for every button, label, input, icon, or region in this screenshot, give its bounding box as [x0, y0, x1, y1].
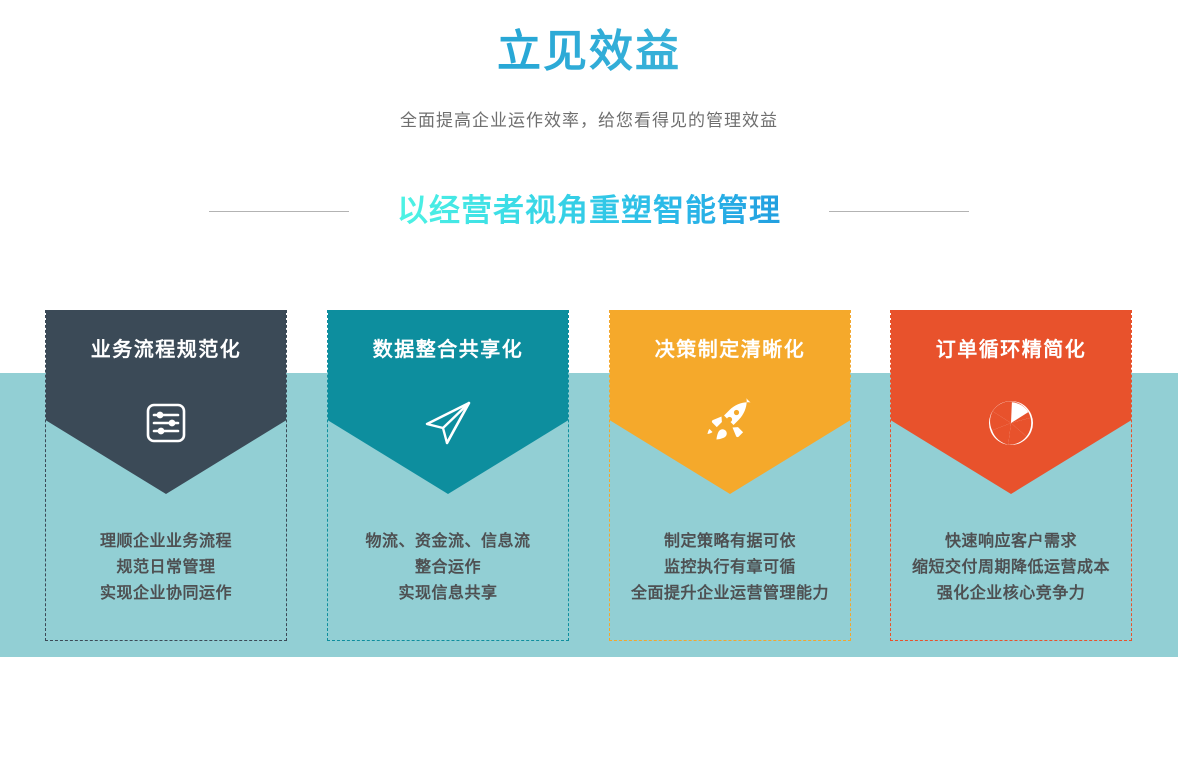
- feature-card[interactable]: 订单循环精简化: [890, 310, 1132, 641]
- card-body-line: 强化企业核心竞争力: [890, 581, 1132, 607]
- card-title: 数据整合共享化: [327, 336, 569, 364]
- sliders-icon: [141, 398, 191, 448]
- card-body-line: 整合运作: [327, 555, 569, 581]
- feature-card[interactable]: 业务流程规范化 理顺企业业务流程 规范日常管理 实现企业协同运作: [45, 310, 287, 641]
- card-body-line: 规范日常管理: [45, 555, 287, 581]
- card-body: 理顺企业业务流程 规范日常管理 实现企业协同运作: [45, 529, 287, 607]
- card-body-line: 实现信息共享: [327, 581, 569, 607]
- section-heading-text: 以经营者视角重塑智能管理: [397, 188, 781, 234]
- card-body: 快速响应客户需求 缩短交付周期降低运营成本 强化企业核心竞争力: [890, 529, 1132, 607]
- aperture-icon: [986, 398, 1036, 448]
- card-body-line: 理顺企业业务流程: [45, 529, 287, 555]
- card-body-line: 制定策略有据可依: [609, 529, 851, 555]
- card-body: 物流、资金流、信息流 整合运作 实现信息共享: [327, 529, 569, 607]
- card-title: 业务流程规范化: [45, 336, 287, 364]
- card-body-line: 监控执行有章可循: [609, 555, 851, 581]
- divider-line-left: [209, 211, 349, 212]
- feature-card[interactable]: 决策制定清晰化 制定策略有据可依 监控执行有章可循 全面提升企业运营管理能力: [609, 310, 851, 641]
- card-body-line: 实现企业协同运作: [45, 581, 287, 607]
- page-title: 立见效益: [0, 22, 1178, 82]
- page-subtitle: 全面提高企业运作效率，给您看得见的管理效益: [0, 107, 1178, 135]
- card-body-line: 缩短交付周期降低运营成本: [890, 555, 1132, 581]
- rocket-icon: [705, 398, 755, 448]
- card-body-line: 全面提升企业运营管理能力: [609, 581, 851, 607]
- card-title: 订单循环精简化: [890, 336, 1132, 364]
- card-body-line: 物流、资金流、信息流: [327, 529, 569, 555]
- divider-line-right: [829, 211, 969, 212]
- section-heading: 以经营者视角重塑智能管理: [0, 188, 1178, 234]
- paper-plane-icon: [423, 398, 473, 448]
- feature-card[interactable]: 数据整合共享化 物流、资金流、信息流 整合运作 实现信息共享: [327, 310, 569, 641]
- card-body: 制定策略有据可依 监控执行有章可循 全面提升企业运营管理能力: [609, 529, 851, 607]
- page-root: 立见效益 全面提高企业运作效率，给您看得见的管理效益 以经营者视角重塑智能管理 …: [0, 0, 1178, 771]
- card-body-line: 快速响应客户需求: [890, 529, 1132, 555]
- card-title: 决策制定清晰化: [609, 336, 851, 364]
